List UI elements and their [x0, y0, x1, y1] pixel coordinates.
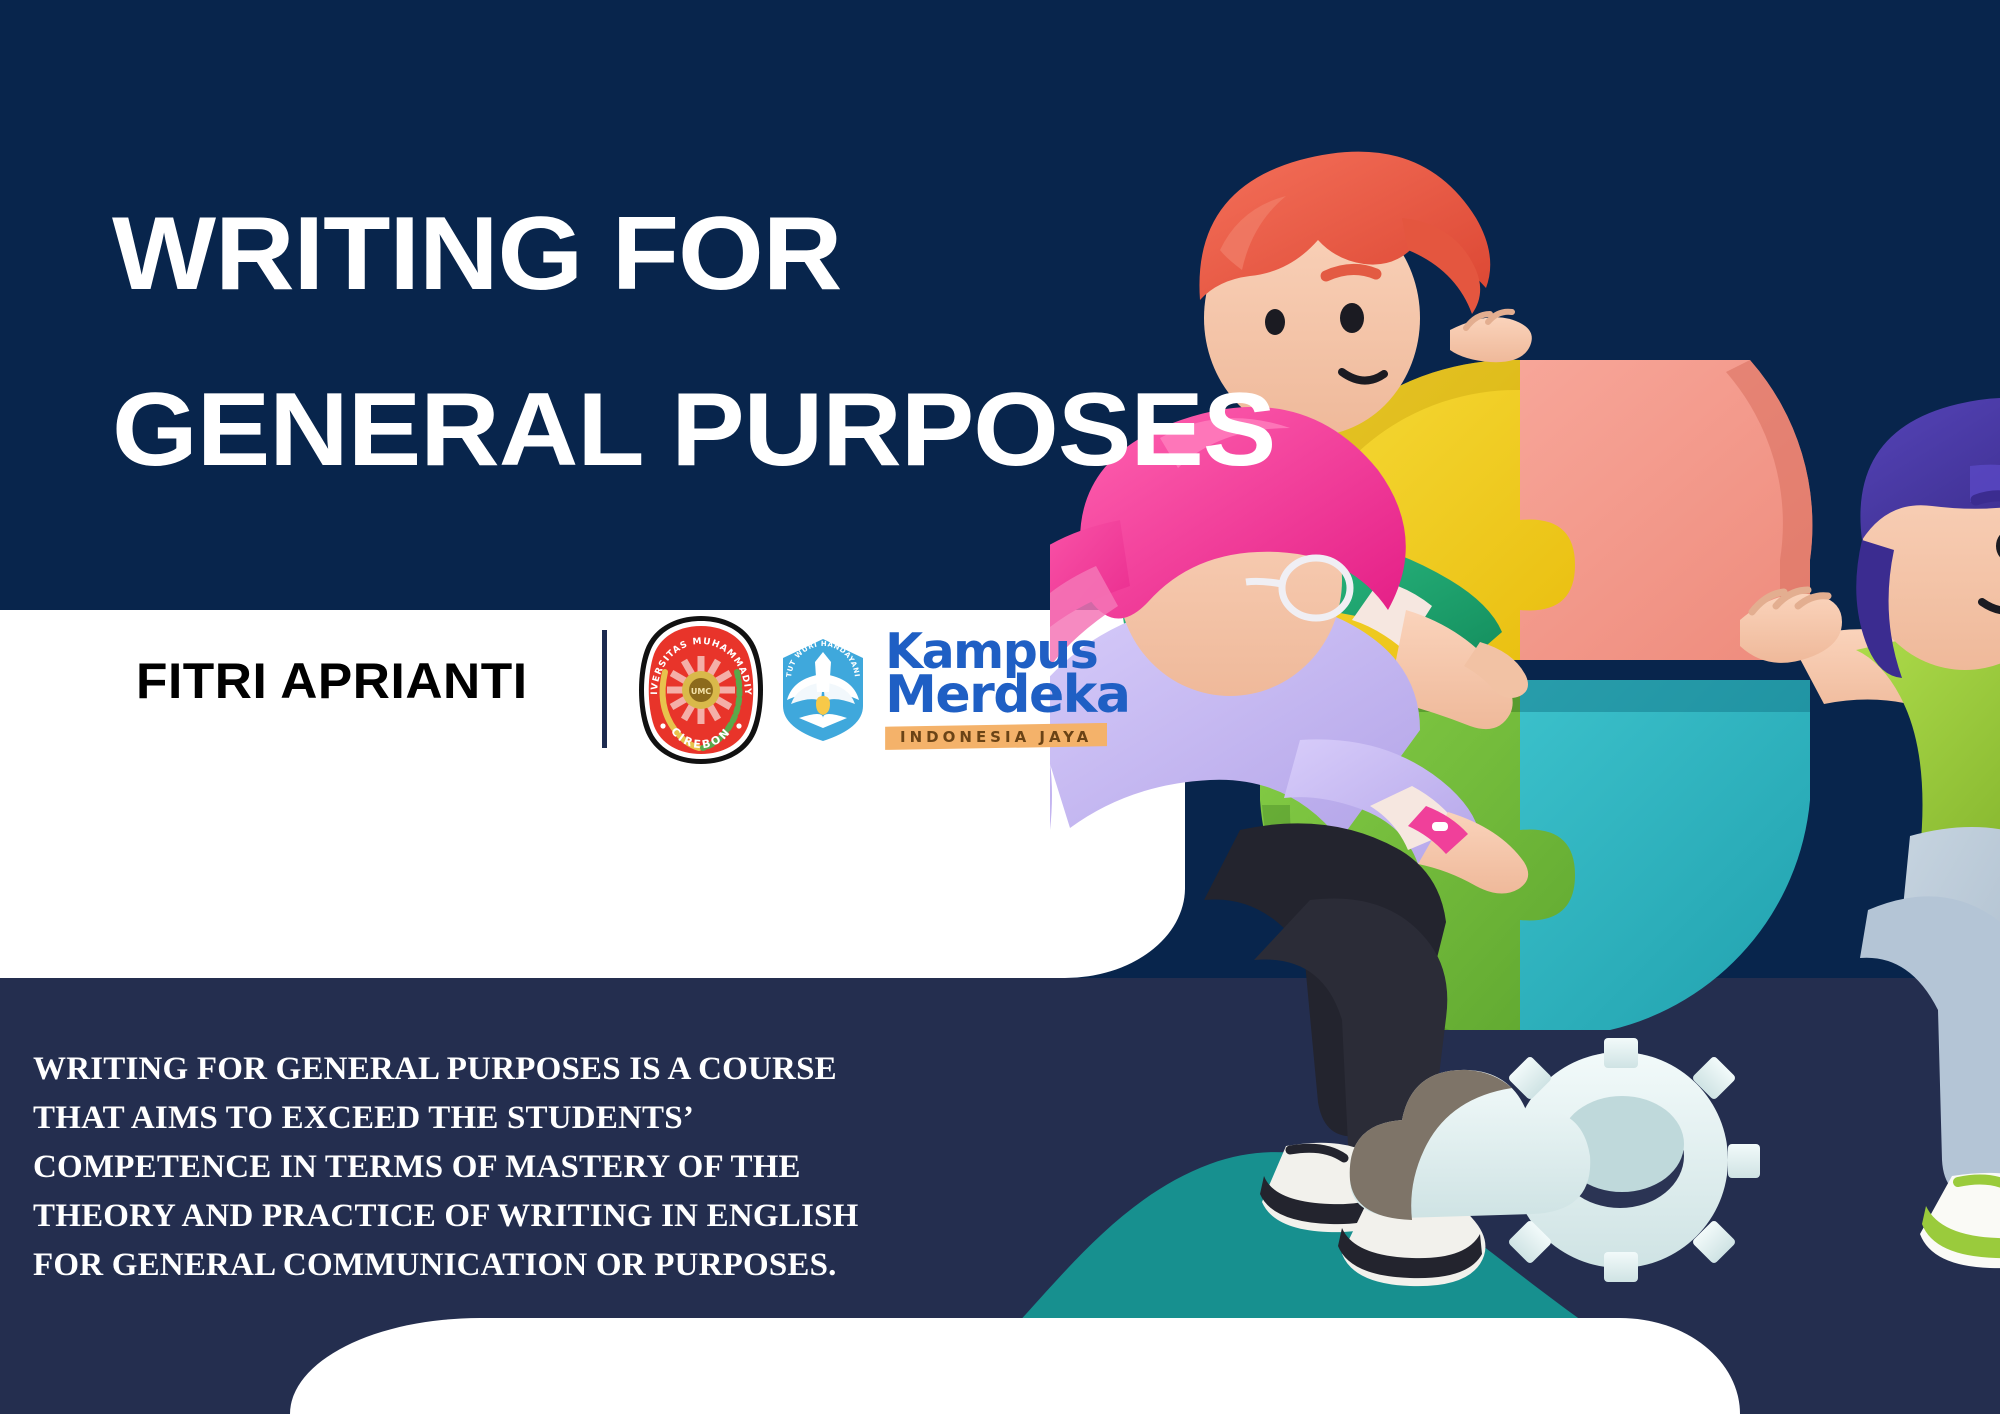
page-title: WRITING FOR GENERAL PURPOSES: [112, 166, 1437, 518]
white-decorative-blob: [290, 1318, 1740, 1414]
title-line-2: GENERAL PURPOSES: [112, 342, 1437, 518]
kemdikbud-tut-wuri-handayani-logo: TUT WURI HANDAYANI: [777, 636, 869, 744]
title-line-1: WRITING FOR: [112, 166, 1437, 342]
kampus-merdeka-line2: Merdeka: [885, 673, 1115, 719]
kampus-merdeka-ribbon: INDONESIA JAYA: [885, 723, 1107, 750]
background-band-right-fill: [1185, 610, 2000, 978]
vertical-divider: [602, 630, 607, 748]
svg-text:UMC: UMC: [691, 687, 711, 696]
presenter-name: FITRI APRIANTI: [136, 652, 528, 710]
course-description: WRITING FOR GENERAL PURPOSES IS A COURSE…: [33, 1045, 933, 1290]
universitas-muhammadiyah-cirebon-logo: UMC UNIVERSITAS MUHAMMADIYAH CIREBON: [635, 614, 767, 766]
kampus-merdeka-wordmark: Kampus Merdeka: [885, 630, 1115, 719]
presenter-logo-row: FITRI APRIANTI: [0, 610, 1185, 978]
logo-group: UMC UNIVERSITAS MUHAMMADIYAH CIREBON: [635, 614, 1115, 766]
presentation-slide: WRITING FOR GENERAL PURPOSES FITRI APRIA…: [0, 0, 2000, 1414]
kampus-merdeka-logo: Kampus Merdeka INDONESIA JAYA: [885, 630, 1115, 750]
